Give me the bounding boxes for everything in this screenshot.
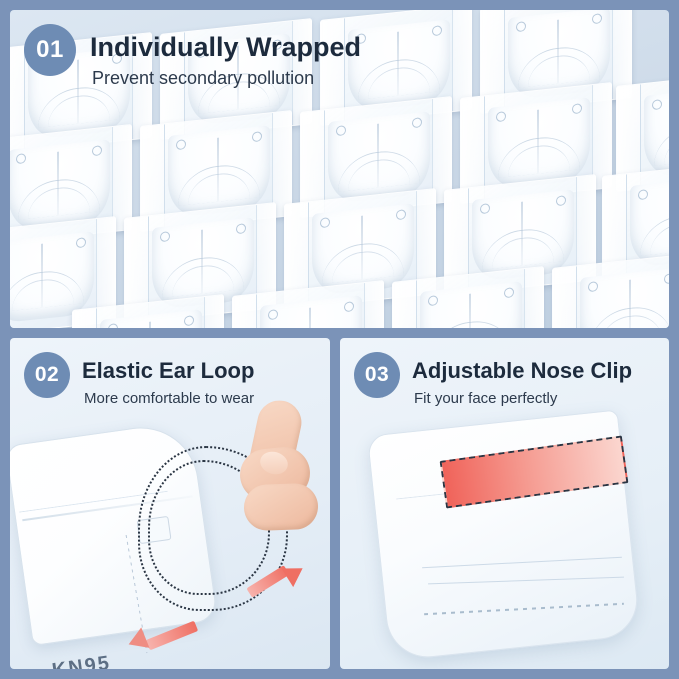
panel-subtitle-01: Prevent secondary pollution (92, 68, 314, 89)
step-number-badge-01: 01 (24, 24, 76, 76)
panel-subtitle-03: Fit your face perfectly (414, 390, 557, 407)
panel-title-02: Elastic Ear Loop (82, 358, 254, 384)
panel-title-01: Individually Wrapped (90, 32, 361, 63)
mask-brand-text: KN95 (51, 652, 113, 669)
panel-title-03: Adjustable Nose Clip (412, 358, 632, 384)
panel-elastic-ear-loop: KN95 02 Elastic Ear Loop More comfortabl… (10, 338, 330, 669)
hand-pulling-loop (234, 400, 324, 550)
panel-subtitle-02: More comfortable to wear (84, 390, 254, 407)
step-number-badge-03: 03 (354, 352, 400, 398)
step-number-badge-02: 02 (24, 352, 70, 398)
infographic-root: 01 Individually Wrapped Prevent secondar… (0, 0, 679, 679)
panel-adjustable-nose-clip: 03 Adjustable Nose Clip Fit your face pe… (340, 338, 669, 669)
kn95-mask-nose-clip-view (368, 412, 648, 662)
panel-individually-wrapped: 01 Individually Wrapped Prevent secondar… (10, 10, 669, 328)
